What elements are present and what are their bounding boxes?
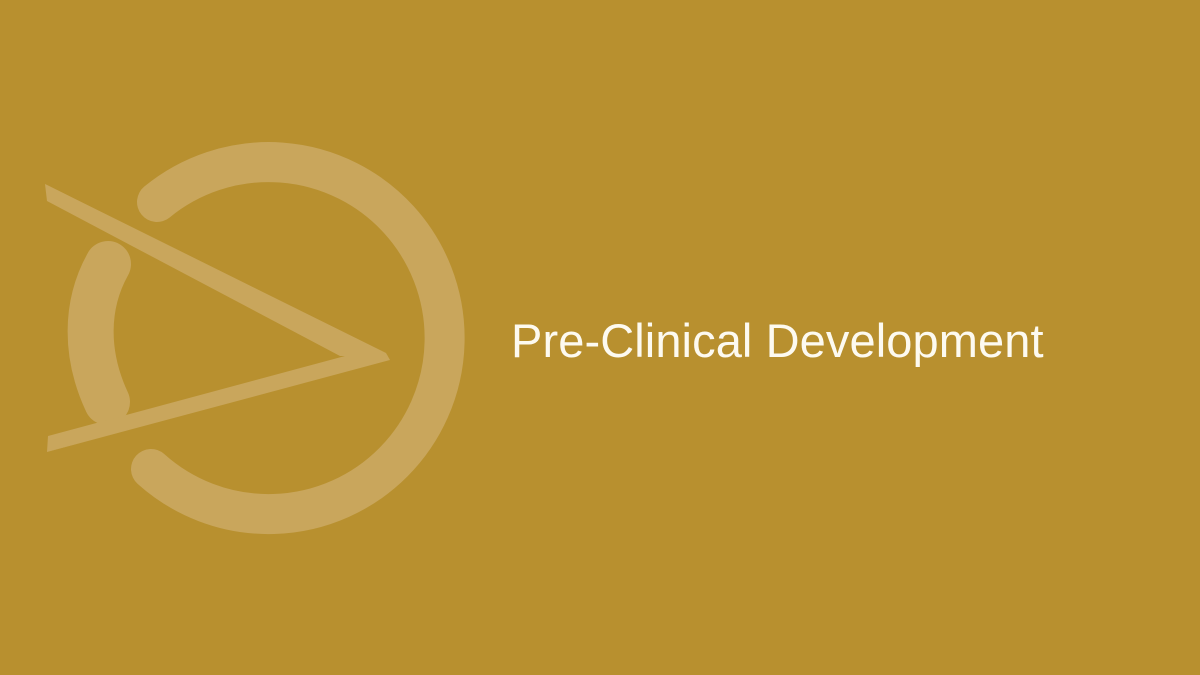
slide-canvas: Pre-Clinical Development [0,0,1200,675]
page-title: Pre-Clinical Development [511,315,1044,367]
title-block: Pre-Clinical Development [511,0,1131,675]
